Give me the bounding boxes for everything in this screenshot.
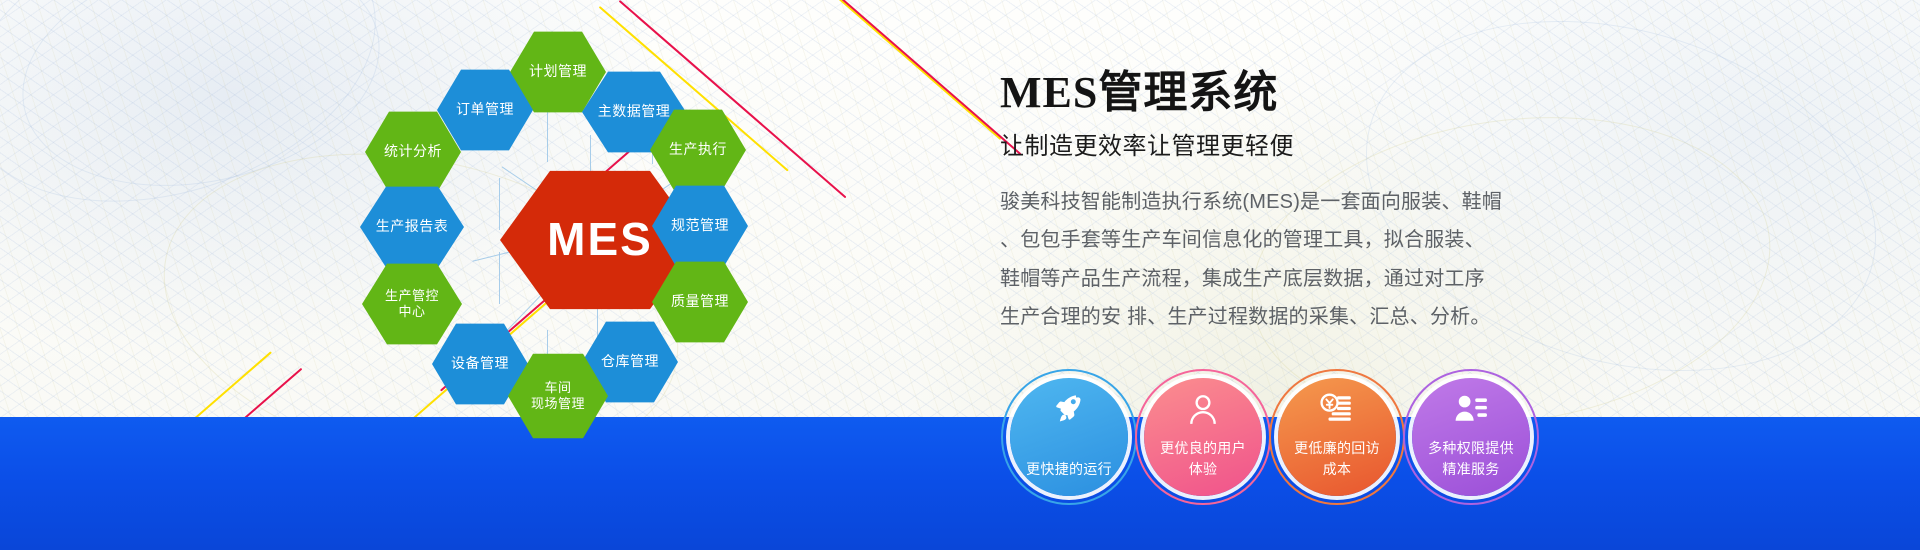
bottom-blue-band bbox=[0, 417, 1920, 550]
hex-node-7-label: 生产管控 中心 bbox=[385, 288, 439, 321]
hex-node-9-label: 设备管理 bbox=[451, 355, 509, 373]
swirl-decoration bbox=[0, 0, 412, 251]
hex-node-5[interactable]: 生产报告表 bbox=[360, 185, 464, 269]
hex-node-7-line1: 生产管控 bbox=[385, 288, 439, 304]
rocket-icon bbox=[1052, 392, 1086, 426]
user-icon bbox=[1186, 392, 1220, 426]
swirl-decoration bbox=[1, 0, 401, 217]
hex-node-7[interactable]: 生产管控 中心 bbox=[362, 262, 462, 346]
connector-line bbox=[499, 178, 500, 230]
feature-badge-3[interactable]: 多种权限提供 精准服务 bbox=[1412, 378, 1530, 496]
hex-node-11-line2: 现场管理 bbox=[531, 396, 585, 412]
page-title: MES管理系统 bbox=[1000, 56, 1580, 120]
mes-promo-banner: MES 计划管理 订单管理 主数据管理 统计分析 生产执行 生产报告表 规范管理… bbox=[0, 0, 1920, 550]
description-paragraph: 骏美科技智能制造执行系统(MES)是一套面向服装、鞋帽 、包包手套等生产车间信息… bbox=[1000, 183, 1580, 337]
description-line-2: 鞋帽等产品生产流程，集成生产底层数据，通过对工序 bbox=[1000, 260, 1580, 298]
hex-node-center-label: MES bbox=[547, 211, 653, 269]
hex-node-4-label: 生产执行 bbox=[669, 141, 727, 159]
badge-ring bbox=[1135, 369, 1271, 505]
hex-node-0-label: 计划管理 bbox=[529, 63, 587, 81]
hex-node-6-label: 规范管理 bbox=[671, 217, 729, 235]
hex-node-2-label: 主数据管理 bbox=[598, 103, 671, 121]
feature-badge-2[interactable]: 更低廉的回访 成本 bbox=[1278, 378, 1396, 496]
description-line-0: 骏美科技智能制造执行系统(MES)是一套面向服装、鞋帽 bbox=[1000, 183, 1580, 221]
hex-node-11-label: 车间 现场管理 bbox=[531, 380, 585, 413]
badge-ring bbox=[1403, 369, 1539, 505]
description-line-1: 、包包手套等生产车间信息化的管理工具，拟合服装、 bbox=[1000, 221, 1580, 259]
copy-block: MES管理系统 让制造更效率让管理更轻便 骏美科技智能制造执行系统(MES)是一… bbox=[1000, 56, 1580, 337]
connector-line bbox=[499, 252, 500, 304]
mes-hexagon-diagram: MES 计划管理 订单管理 主数据管理 统计分析 生产执行 生产报告表 规范管理… bbox=[400, 0, 860, 500]
feature-badge-0[interactable]: 更快捷的运行 bbox=[1010, 378, 1128, 496]
user-list-icon bbox=[1454, 392, 1488, 426]
money-icon bbox=[1320, 392, 1354, 426]
badge-ring bbox=[1001, 369, 1137, 505]
hex-node-1-label: 订单管理 bbox=[456, 101, 514, 119]
hex-node-8-label: 质量管理 bbox=[671, 293, 729, 311]
hex-node-7-line2: 中心 bbox=[385, 304, 439, 320]
connector-line bbox=[547, 110, 548, 162]
hex-node-5-label: 生产报告表 bbox=[376, 218, 449, 236]
page-subtitle: 让制造更效率让管理更轻便 bbox=[1000, 126, 1580, 161]
feature-badge-1[interactable]: 更优良的用户 体验 bbox=[1144, 378, 1262, 496]
hex-node-3-label: 统计分析 bbox=[384, 143, 442, 161]
feature-badge-row: 更快捷的运行 更优良的用户 体验 bbox=[1010, 378, 1530, 496]
hex-node-11-line1: 车间 bbox=[531, 380, 585, 396]
description-line-3: 生产合理的安 排、生产过程数据的采集、汇总、分析。 bbox=[1000, 298, 1580, 336]
hex-node-10-label: 仓库管理 bbox=[601, 353, 659, 371]
badge-ring bbox=[1269, 369, 1405, 505]
